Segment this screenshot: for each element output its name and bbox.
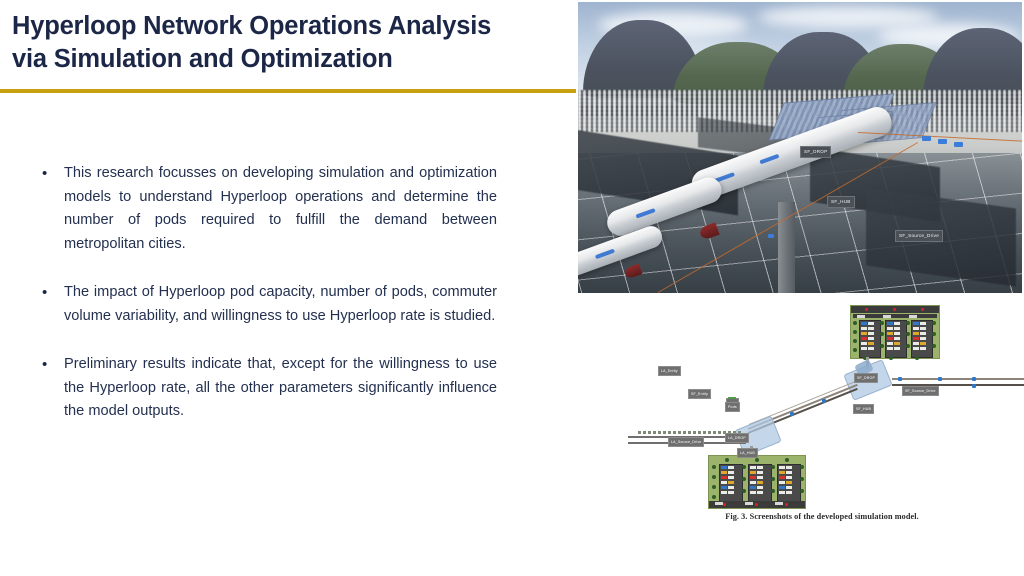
hyperloop-3d-simulation-render: SF_DROP SF_HUB SF_Source_Drive	[578, 2, 1022, 293]
render-label-sf-hub: SF_HUB	[827, 196, 855, 208]
sf-source-drive-rail	[892, 378, 1024, 380]
list-item: • Preliminary results indicate that, exc…	[42, 353, 497, 424]
station-road-bottom	[709, 501, 805, 508]
list-item: • The impact of Hyperloop pod capacity, …	[42, 281, 497, 328]
diagram-label-pods: Pods	[725, 402, 740, 412]
track-node	[790, 412, 794, 416]
bullet-text: The impact of Hyperloop pod capacity, nu…	[64, 281, 497, 328]
track-node	[822, 399, 826, 403]
bullet-text: This research focusses on developing sim…	[64, 162, 497, 256]
cloud-shape	[758, 6, 938, 28]
vehicle-chip	[922, 136, 931, 141]
sf-drive-node	[972, 377, 976, 381]
bullet-text: Preliminary results indicate that, excep…	[64, 353, 497, 424]
title-divider	[0, 89, 576, 93]
simulation-model-network-diagram: LA_Entity SF_Entity Pods LA_Source_Drive…	[620, 300, 1024, 540]
station-road-top	[851, 306, 939, 313]
render-label-sf-source-drive: SF_Source_Drive	[895, 230, 943, 242]
diagram-label-sf-entity: SF_Entity	[688, 389, 711, 399]
figure-caption: Fig. 3. Screenshots of the developed sim…	[620, 512, 1024, 521]
bullet-marker-icon: •	[42, 353, 64, 377]
bullet-marker-icon: •	[42, 281, 64, 305]
diagram-label-la-hub: LA_HUB	[737, 448, 758, 458]
sf-drive-node	[938, 377, 942, 381]
la-station-block	[708, 455, 806, 509]
vehicle-chip	[954, 142, 963, 147]
list-item: • This research focusses on developing s…	[42, 162, 497, 256]
page-title: Hyperloop Network Operations Analysis vi…	[12, 10, 592, 75]
vehicle-chip	[768, 234, 774, 238]
diagram-label-sf-hub: SF_HUB	[853, 404, 874, 414]
diagram-label-sf-drop: SF_DROP	[854, 373, 878, 383]
diagram-label-la-entity: LA_Entity	[658, 366, 681, 376]
sf-drive-node	[898, 377, 902, 381]
bullet-marker-icon: •	[42, 162, 64, 186]
render-label-sf-drop: SF_DROP	[800, 146, 831, 158]
tube-pylon	[778, 202, 795, 293]
bullet-list: • This research focusses on developing s…	[42, 162, 497, 449]
sf-station-block	[850, 305, 940, 359]
diagram-label-la-drop: LA_DROP	[725, 433, 749, 443]
vehicle-chip	[938, 139, 947, 144]
diagram-label-sf-source-drive: SF_Source_Drive	[902, 386, 939, 396]
sf-drive-node	[972, 384, 976, 388]
diagram-label-la-source-drive: LA_Source_Drive	[668, 437, 704, 447]
